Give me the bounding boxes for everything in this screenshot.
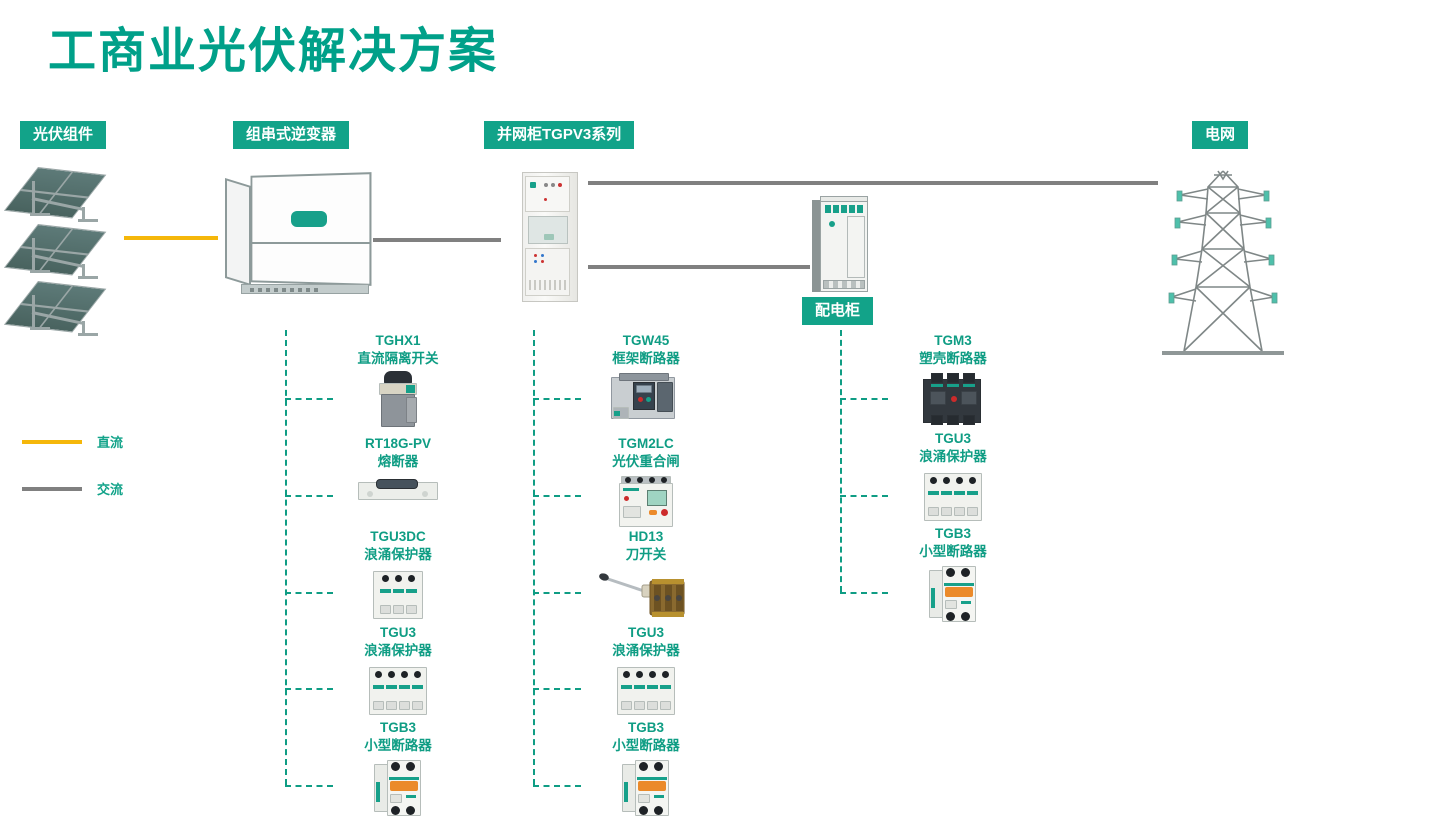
mcb-side-stripe xyxy=(376,782,380,802)
acb-indicator xyxy=(614,411,620,416)
spd-label xyxy=(954,507,965,516)
spd-status-window xyxy=(647,685,658,689)
grid-cabinet-indicator-lamp xyxy=(544,198,547,201)
recloser-indicator xyxy=(624,496,629,501)
device-tgu3: TGU3 浪涌保护器 xyxy=(551,624,741,719)
dist-cabinet-base-vent xyxy=(823,280,865,289)
mcb-brand-stripe xyxy=(944,583,974,586)
spd-status-window xyxy=(928,491,939,495)
spd-terminal xyxy=(956,477,963,484)
device-desc: 浪涌保护器 xyxy=(858,448,1048,466)
mcb-toggle-lever xyxy=(638,781,666,791)
mcb-toggle-lever xyxy=(390,781,418,791)
acb-display xyxy=(636,385,652,393)
spd-label xyxy=(647,701,658,710)
mcb-label xyxy=(638,794,650,803)
mcb-terminal xyxy=(946,612,955,621)
mcb-label xyxy=(390,794,402,803)
spd-label xyxy=(399,701,410,710)
device-desc: 塑壳断路器 xyxy=(858,350,1048,368)
transmission-tower-illustration xyxy=(1158,165,1288,360)
spd-terminal xyxy=(623,671,630,678)
grid-cabinet-indicator-lamp xyxy=(558,183,562,187)
device-image-spd4 xyxy=(615,663,677,719)
device-image-mcb xyxy=(370,758,426,818)
spd-status-window xyxy=(660,685,671,689)
grid-cabinet-indicator-lamp xyxy=(541,254,544,257)
device-image-knife-switch xyxy=(598,567,694,621)
knife-switch-svg xyxy=(598,567,694,621)
grid-cabinet-window-device xyxy=(544,234,554,240)
mcb-indicator xyxy=(961,601,971,604)
device-image-mcb xyxy=(618,758,674,818)
device-tgu3: TGU3 浪涌保护器 xyxy=(303,624,493,719)
recloser-terminal xyxy=(649,477,655,483)
device-desc: 小型断路器 xyxy=(551,737,741,755)
pv-panel-foot xyxy=(30,213,50,216)
spd-status-window xyxy=(380,589,391,593)
dist-cabinet-switch xyxy=(825,205,831,213)
dist-cabinet-door xyxy=(847,216,865,278)
device-tghx1: TGHX1 直流隔离开关 xyxy=(303,332,493,429)
pv-panel-array-1 xyxy=(24,165,120,227)
acb-trip-button xyxy=(638,397,643,402)
mcb-terminal xyxy=(654,806,663,815)
device-image-spd3 xyxy=(371,567,425,623)
mccb-stripe xyxy=(947,384,959,387)
mccb-handle xyxy=(961,391,977,405)
acb-reset-button xyxy=(646,397,651,402)
diagram-canvas: 工商业光伏解决方案 光伏组件 组串式逆变器 并网柜TGPV3系列 配电柜 电网 … xyxy=(0,0,1436,829)
page-title: 工商业光伏解决方案 xyxy=(48,24,498,79)
tag-pv-modules: 光伏组件 xyxy=(20,121,106,149)
pv-panel-glass xyxy=(4,224,106,275)
spd-status-window xyxy=(954,491,965,495)
legend-swatch-dc xyxy=(22,440,82,444)
device-image-spd4 xyxy=(367,663,429,719)
dist-cabinet-switch xyxy=(841,205,847,213)
spd-terminal xyxy=(930,477,937,484)
spd-terminal xyxy=(636,671,643,678)
spd-terminal xyxy=(375,671,382,678)
device-name: TGB3 xyxy=(551,719,741,737)
spd-status-window xyxy=(941,491,952,495)
dist-cabinet-illustration xyxy=(812,196,870,294)
mcb-side-stripe xyxy=(931,588,935,608)
grid-cabinet-indicator-lamp xyxy=(534,254,537,257)
recloser-lcd-screen xyxy=(647,490,667,506)
pv-panel-glass xyxy=(4,281,106,332)
spd-terminal xyxy=(414,671,421,678)
mcb-terminal xyxy=(654,762,663,771)
mcb-indicator xyxy=(654,795,664,798)
device-desc: 浪涌保护器 xyxy=(303,546,493,564)
device-name: TGU3 xyxy=(858,430,1048,448)
pv-panel-foot xyxy=(30,327,50,330)
string-inverter-illustration xyxy=(225,168,395,308)
device-image-mccb xyxy=(921,371,985,427)
dist-cabinet-switch xyxy=(833,205,839,213)
isolator-terminal-block xyxy=(406,397,417,423)
device-tgb3: TGB3 小型断路器 xyxy=(551,719,741,818)
device-image-spd4 xyxy=(922,469,984,525)
device-tgm2lc: TGM2LC 光伏重合闸 xyxy=(551,435,741,530)
fuse-screw xyxy=(367,491,373,497)
spd-terminal xyxy=(388,671,395,678)
device-desc: 小型断路器 xyxy=(303,737,493,755)
grid-cabinet-indicator-lamp xyxy=(541,260,544,263)
device-name: TGHX1 xyxy=(303,332,493,350)
device-tgw45: TGW45 框架断路器 xyxy=(551,332,741,423)
recloser-terminal xyxy=(637,477,643,483)
device-name: TGM2LC xyxy=(551,435,741,453)
inverter-seam xyxy=(251,242,372,244)
spd-label xyxy=(621,701,632,710)
spd-label xyxy=(412,701,423,710)
recloser-reset-button xyxy=(661,509,668,516)
mcb-brand-stripe xyxy=(637,777,667,780)
spd-label xyxy=(380,605,391,614)
spd-terminal xyxy=(662,671,669,678)
device-name: TGU3DC xyxy=(303,528,493,546)
mcb-indicator xyxy=(406,795,416,798)
fuse-cartridge xyxy=(376,479,418,489)
device-image-acb xyxy=(609,371,683,423)
acb-side-module xyxy=(657,382,673,412)
device-name: RT18G-PV xyxy=(303,435,493,453)
inverter-front-panel xyxy=(251,172,372,286)
device-tgu3: TGU3 浪涌保护器 xyxy=(858,430,1048,525)
device-desc: 浪涌保护器 xyxy=(551,642,741,660)
spd-terminal xyxy=(969,477,976,484)
grid-cabinet-indicator-lamp xyxy=(534,260,537,263)
mccb-trip-button xyxy=(951,396,957,402)
tag-grid-cabinet: 并网柜TGPV3系列 xyxy=(484,121,634,149)
mcb-terminal xyxy=(639,762,648,771)
pv-panel-array-2 xyxy=(24,222,120,284)
pv-panel-foot xyxy=(78,333,98,336)
device-desc: 刀开关 xyxy=(551,546,741,564)
mccb-stripe xyxy=(931,384,943,387)
spd-status-window xyxy=(393,589,404,593)
spd-status-window xyxy=(373,685,384,689)
device-hd13: HD13 刀开关 xyxy=(551,528,741,621)
device-tgm3: TGM3 塑壳断路器 xyxy=(858,332,1048,427)
legend-swatch-ac xyxy=(22,487,82,491)
device-image-recloser xyxy=(615,474,677,530)
spd-label xyxy=(928,507,939,516)
device-name: TGU3 xyxy=(303,624,493,642)
mccb-terminal-shroud xyxy=(947,415,959,425)
tag-dist-cabinet: 配电柜 xyxy=(802,297,873,325)
pv-panel-array-3 xyxy=(24,279,120,341)
legend-label-ac: 交流 xyxy=(97,479,123,498)
mcb-terminal xyxy=(639,806,648,815)
spd-terminal xyxy=(408,575,415,582)
isolator-marker xyxy=(406,385,415,393)
transmission-tower-svg xyxy=(1158,165,1288,360)
mcb-terminal xyxy=(961,568,970,577)
device-name: HD13 xyxy=(551,528,741,546)
mcb-toggle-lever xyxy=(945,587,973,597)
device-tgb3: TGB3 小型断路器 xyxy=(303,719,493,818)
device-desc: 光伏重合闸 xyxy=(551,453,741,471)
device-desc: 浪涌保护器 xyxy=(303,642,493,660)
mccb-terminal-shroud xyxy=(963,415,975,425)
legend-item-ac: 交流 xyxy=(22,479,123,498)
spd-terminal xyxy=(382,575,389,582)
spd-terminal xyxy=(401,671,408,678)
device-image-mcb xyxy=(925,564,981,624)
spd-terminal xyxy=(943,477,950,484)
inverter-brand-badge xyxy=(291,211,327,227)
device-tgu3dc: TGU3DC 浪涌保护器 xyxy=(303,528,493,623)
mcb-terminal xyxy=(406,762,415,771)
spd-status-window xyxy=(399,685,410,689)
grid-cabinet-indicator-lamp xyxy=(551,183,555,187)
mcb-label xyxy=(945,600,957,609)
ac-line-grid-cabinet-to-dist-cabinet xyxy=(588,265,810,269)
column-trunk-line xyxy=(840,330,842,592)
device-name: TGU3 xyxy=(551,624,741,642)
recloser-button xyxy=(649,510,657,515)
mcb-terminal xyxy=(391,806,400,815)
spd-label xyxy=(967,507,978,516)
mccb-terminal-shroud xyxy=(931,415,943,425)
ac-line-grid-cabinet-to-grid xyxy=(588,181,1158,185)
device-image-isolator xyxy=(366,371,430,429)
spd-label xyxy=(941,507,952,516)
legend-label-dc: 直流 xyxy=(97,432,123,451)
mccb-handle xyxy=(930,391,946,405)
mccb-stripe xyxy=(963,384,975,387)
grid-cabinet-indicator-lamp xyxy=(544,183,548,187)
spd-label xyxy=(634,701,645,710)
device-desc: 直流隔离开关 xyxy=(303,350,493,368)
grid-cabinet-indicator-meter xyxy=(530,182,536,188)
device-name: TGB3 xyxy=(303,719,493,737)
pv-panel-glass xyxy=(4,167,106,218)
dist-cabinet-switch xyxy=(849,205,855,213)
recloser-terminal xyxy=(625,477,631,483)
pv-panel-foot xyxy=(30,270,50,273)
spd-label xyxy=(406,605,417,614)
device-desc: 框架断路器 xyxy=(551,350,741,368)
dist-cabinet-indicator xyxy=(829,221,835,227)
fuse-screw xyxy=(422,491,428,497)
spd-label xyxy=(373,701,384,710)
spd-status-window xyxy=(634,685,645,689)
dc-line-panels-to-inverter xyxy=(124,236,218,240)
spd-status-window xyxy=(406,589,417,593)
device-name: TGB3 xyxy=(858,525,1048,543)
recloser-label xyxy=(623,506,641,518)
spd-terminal xyxy=(395,575,402,582)
spd-status-window xyxy=(967,491,978,495)
mcb-terminal xyxy=(406,806,415,815)
recloser-terminal xyxy=(661,477,667,483)
spd-label xyxy=(386,701,397,710)
spd-status-window xyxy=(386,685,397,689)
grid-cabinet-ventilation-grille xyxy=(529,280,567,290)
device-name: TGM3 xyxy=(858,332,1048,350)
recloser-brand-stripe xyxy=(623,488,639,491)
acb-top-rail xyxy=(619,373,669,381)
mcb-side-stripe xyxy=(624,782,628,802)
device-name: TGW45 xyxy=(551,332,741,350)
mcb-terminal xyxy=(961,612,970,621)
mccb-terminal-shroud xyxy=(931,373,943,383)
dist-cabinet-switch xyxy=(857,205,863,213)
mcb-terminal xyxy=(946,568,955,577)
device-rt18g-pv: RT18G-PV 熔断器 xyxy=(303,435,493,504)
spd-status-window xyxy=(412,685,423,689)
tag-string-inverter: 组串式逆变器 xyxy=(233,121,349,149)
inverter-side-panel xyxy=(225,178,251,286)
spd-terminal xyxy=(649,671,656,678)
inverter-connector-base xyxy=(241,284,369,294)
mcb-brand-stripe xyxy=(389,777,419,780)
spd-label xyxy=(660,701,671,710)
device-tgb3: TGB3 小型断路器 xyxy=(858,525,1048,624)
device-desc: 熔断器 xyxy=(303,453,493,471)
spd-label xyxy=(393,605,404,614)
device-desc: 小型断路器 xyxy=(858,543,1048,561)
mccb-terminal-shroud xyxy=(947,373,959,383)
dist-cabinet-top-rail xyxy=(821,197,867,202)
spd-status-window xyxy=(621,685,632,689)
tag-power-grid: 电网 xyxy=(1192,121,1248,149)
device-image-fuse xyxy=(358,474,438,504)
mcb-terminal xyxy=(391,762,400,771)
legend-item-dc: 直流 xyxy=(22,432,123,451)
mccb-terminal-shroud xyxy=(963,373,975,383)
grid-cabinet-illustration xyxy=(522,172,578,302)
